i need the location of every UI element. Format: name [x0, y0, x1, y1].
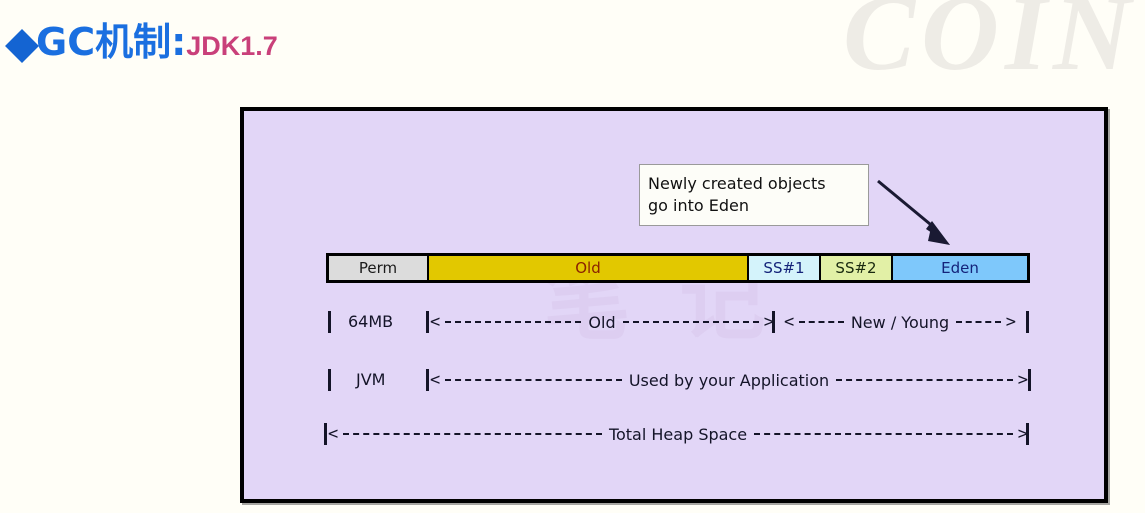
ruler-label-jvm: JVM [356, 370, 385, 389]
ruler-tick [772, 311, 775, 333]
diamond-bullet-icon [5, 29, 39, 63]
callout-line-1: Newly created objects [648, 173, 862, 195]
ruler-tick [426, 369, 429, 391]
ruler-row-application: JVM < Used by your Application > [244, 365, 1104, 395]
ruler-span-new-young: < New / Young > [784, 311, 1016, 333]
memory-segment-eden[interactable]: Eden [891, 256, 1027, 280]
arrow-down-right-icon [864, 171, 964, 251]
ruler-span-label: Total Heap Space [607, 425, 749, 444]
ruler-tick [328, 311, 331, 333]
page-title-main: GC机制: [36, 20, 186, 64]
ruler-span-label: Old [586, 313, 617, 332]
page-title-subtitle: JDK1.7 [186, 31, 278, 61]
memory-segment-perm[interactable]: Perm [329, 256, 427, 280]
dash-line [623, 321, 759, 323]
ruler-span-label: New / Young [849, 313, 951, 332]
page-title: GC机制:JDK1.7 [10, 23, 278, 61]
callout-box: Newly created objects go into Eden [639, 164, 869, 226]
ruler-span-total-heap: < Total Heap Space > [328, 423, 1028, 445]
arrow-left-glyph: < [430, 372, 440, 389]
ruler-tick [426, 311, 429, 333]
ruler-tick [1028, 369, 1031, 391]
watermark-center: 笔 记 [544, 231, 780, 356]
memory-segment-ss2[interactable]: SS#2 [819, 256, 891, 280]
ruler-tick [324, 423, 327, 445]
ruler-span-label: Used by your Application [627, 371, 831, 390]
arrow-right-glyph: > [1006, 314, 1016, 331]
memory-bar: Perm Old SS#1 SS#2 Eden [326, 253, 1030, 283]
dash-line [445, 321, 581, 323]
dash-line [836, 379, 1013, 381]
memory-segment-old[interactable]: Old [427, 256, 747, 280]
watermark-corner: COIN [843, 0, 1137, 96]
dash-line [754, 433, 1013, 435]
ruler-span-old: < Old > [430, 311, 774, 333]
ruler-tick [328, 369, 331, 391]
ruler-row-total-heap: < Total Heap Space > [244, 419, 1104, 449]
ruler-tick [1026, 423, 1029, 445]
ruler-span-used-by-application: < Used by your Application > [430, 369, 1028, 391]
arrow-left-glyph: < [328, 426, 338, 443]
dash-line [956, 321, 1001, 323]
ruler-tick [1026, 311, 1029, 333]
arrow-right-glyph: > [1018, 372, 1028, 389]
callout-line-2: go into Eden [648, 195, 862, 217]
ruler-label-64mb: 64MB [348, 312, 393, 331]
jvm-memory-diagram-panel: 笔 记 Newly created objects go into Eden P… [240, 107, 1108, 503]
ruler-row-generations: 64MB < Old > < New / Young > [244, 307, 1104, 337]
dash-line [445, 379, 622, 381]
arrow-left-glyph: < [784, 314, 794, 331]
dash-line [343, 433, 602, 435]
arrow-left-glyph: < [430, 314, 440, 331]
dash-line [799, 321, 844, 323]
memory-segment-ss1[interactable]: SS#1 [747, 256, 819, 280]
